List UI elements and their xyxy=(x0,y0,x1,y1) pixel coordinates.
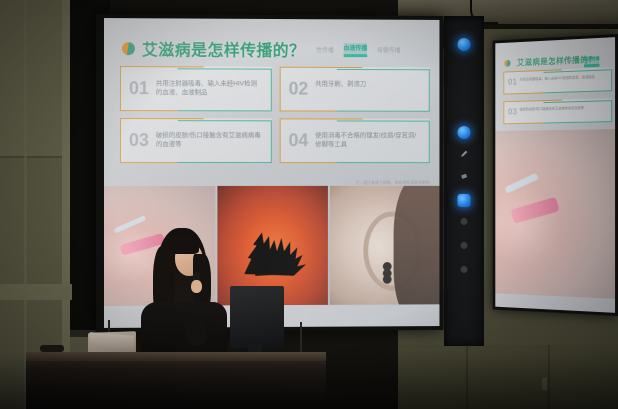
projection-toolbar[interactable] xyxy=(444,16,484,346)
hair-shape xyxy=(394,186,440,305)
transmission-box: 02 共用牙刷、剃须刀 xyxy=(280,67,430,112)
box-text: 使用消毒不合格的理发/纹眉/穿耳洞/修脚等工具 xyxy=(315,131,421,150)
annotate-tool-icon[interactable] xyxy=(458,126,471,139)
side-transmission-box: 01 共用注射器吸毒、输入未经HIV检测的血液、血液制品 xyxy=(503,67,612,94)
box-border-teal xyxy=(337,69,430,112)
side-projection-screen[interactable]: 艾滋病是怎样传播的？ 性传播 血液传播 01 共用注射器吸毒、输入未经HIV检测… xyxy=(493,34,618,316)
capture-tool-icon[interactable] xyxy=(458,194,471,207)
presenter-hand xyxy=(191,280,202,293)
side-tab-sexual[interactable]: 性传播 xyxy=(563,59,574,65)
box-text: 共用注射器吸毒、输入未经HIV检测的血液、血液制品 xyxy=(156,79,263,98)
podium-object xyxy=(40,345,64,352)
piercing-studs-icon xyxy=(383,262,392,271)
wall-seam-a xyxy=(466,345,468,409)
box-border-teal xyxy=(544,69,612,93)
side-transmission-box: 03 破损的皮肤/伤口接触含有艾滋病病毒的血液等 xyxy=(503,98,612,124)
more-tool-a-icon[interactable] xyxy=(461,218,468,225)
podium-top-surface xyxy=(26,352,326,361)
side-tab-blood[interactable]: 血液传播 xyxy=(584,56,599,65)
box-border-teal xyxy=(544,100,612,123)
transmission-box: 01 共用注射器吸毒、输入未经HIV检测的血液、血液制品 xyxy=(120,66,272,111)
side-slide-tabs[interactable]: 性传播 血液传播 xyxy=(563,56,599,65)
ear-piercing-photo xyxy=(330,186,440,305)
box-number: 01 xyxy=(129,79,149,97)
side-slide-surface: 艾滋病是怎样传播的？ 性传播 血液传播 01 共用注射器吸毒、输入未经HIV检测… xyxy=(495,37,615,313)
syringe-and-skin-photo xyxy=(495,129,615,299)
transmission-box: 03 破损的皮肤/伤口接触含有艾滋病病毒的血液等 xyxy=(120,118,272,163)
two-tone-circle-icon xyxy=(504,60,510,67)
eraser-icon[interactable] xyxy=(460,171,469,181)
wall-trim xyxy=(0,284,72,300)
desk-post-right xyxy=(300,322,302,352)
tab-blood-transmission[interactable]: 血液传播 xyxy=(344,43,368,54)
record-indicator-icon[interactable] xyxy=(458,38,471,51)
box-text: 共用牙刷、剃须刀 xyxy=(315,80,421,90)
box-number: 01 xyxy=(508,78,517,87)
lower-right-wall xyxy=(398,345,618,409)
pen-icon[interactable] xyxy=(460,149,469,159)
slide-tabs[interactable]: 性传播 血液传播 母婴传播 xyxy=(316,43,400,54)
slide-header: 艾滋病是怎样传播的？ xyxy=(122,36,305,61)
classroom-scene: 艾滋病是怎样传播的？ 性传播 血液传播 母婴传播 01 共用注射器吸毒、输入未经… xyxy=(0,0,618,409)
transmission-box: 04 使用消毒不合格的理发/纹眉/穿耳洞/修脚等工具 xyxy=(280,118,430,163)
tattoo-graphic xyxy=(228,226,316,281)
side-photo-strip xyxy=(495,129,615,299)
box-text: 破损的皮肤/伤口接触含有艾滋病病毒的血液等 xyxy=(156,131,263,150)
presenter xyxy=(139,228,231,352)
wall-seam-b xyxy=(548,345,550,409)
box-number: 03 xyxy=(508,108,517,117)
tab-mother-child-transmission[interactable]: 母婴传播 xyxy=(377,45,400,54)
two-tone-circle-icon xyxy=(122,42,135,55)
box-number: 02 xyxy=(289,80,309,98)
box-number: 03 xyxy=(129,131,149,149)
slide-title: 艾滋病是怎样传播的？ xyxy=(142,36,305,61)
wall-seam xyxy=(24,0,27,409)
tab-sexual-transmission[interactable]: 性传播 xyxy=(316,45,334,54)
more-tool-c-icon[interactable] xyxy=(461,266,468,273)
side-box-grid: 01 共用注射器吸毒、输入未经HIV检测的血液、血液制品 03 破损的皮肤/伤口… xyxy=(503,67,612,124)
box-number: 04 xyxy=(289,131,309,149)
wall-panel-upper xyxy=(0,0,64,158)
podium-monitor xyxy=(230,286,284,348)
wall-knob xyxy=(542,378,547,390)
more-tool-b-icon[interactable] xyxy=(461,242,468,249)
transmission-box-grid: 01 共用注射器吸毒、输入未经HIV检测的血液、血液制品 02 共用牙刷、剃须刀… xyxy=(120,66,430,163)
